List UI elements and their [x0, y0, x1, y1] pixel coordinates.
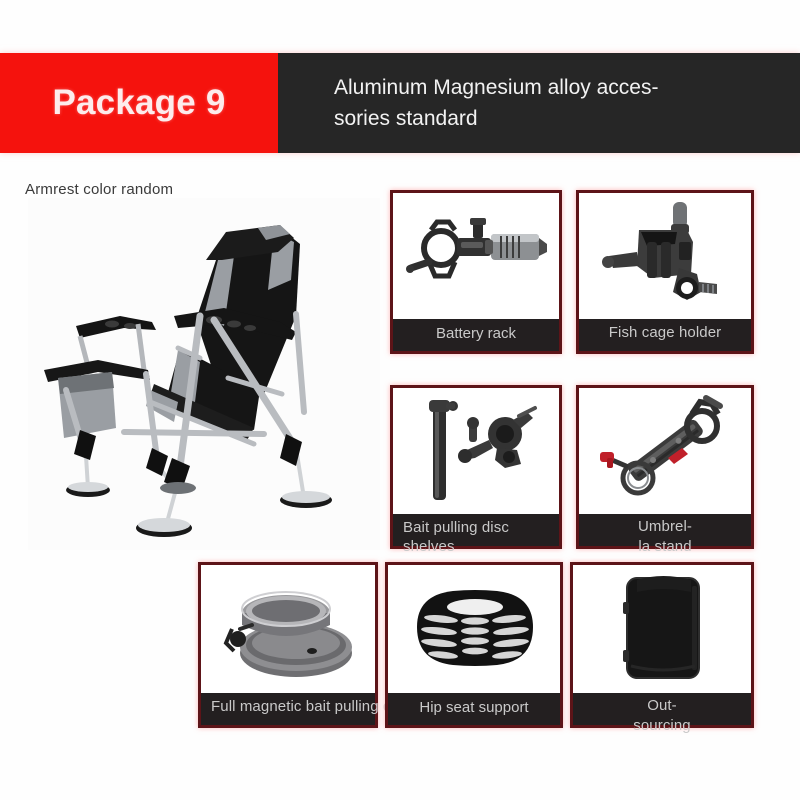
chair-product-image: [28, 198, 380, 550]
accessory-card-battery-rack[interactable]: Battery rack: [390, 190, 562, 354]
fish-cage-holder-caption: Fish cage holder: [579, 319, 751, 351]
umbrella-stand-caption: Umbrel-la stand: [579, 514, 751, 546]
full-magnetic-bait-pulling-disc-image: [201, 565, 375, 693]
battery-rack-caption: Battery rack: [393, 319, 559, 351]
full-magnetic-bait-pulling-disc-caption: Full magnetic bait pulling disc: [201, 693, 375, 725]
fish-cage-holder-image: [579, 193, 751, 319]
accessory-card-hip-seat-support[interactable]: Hip seat support: [385, 562, 563, 728]
hip-seat-support-caption: Hip seat support: [388, 693, 560, 725]
accessory-card-fish-cage-holder[interactable]: Fish cage holder: [576, 190, 754, 354]
package-label: Package 9: [52, 83, 225, 123]
product-spec-page: Package 9 Aluminum Magnesium alloy acces…: [0, 0, 800, 800]
accessory-card-umbrella-stand[interactable]: Umbrel-la stand: [576, 385, 754, 549]
outsourcing-caption-line1: Out-: [647, 697, 677, 714]
chair-illustration: [28, 198, 380, 550]
bait-pulling-disc-shelves-caption: Bait pulling disc shelves: [393, 514, 559, 546]
outsourcing-caption: Out-sourcing: [573, 693, 751, 725]
accessory-card-bait-pulling-disc-shelves[interactable]: Bait pulling disc shelves: [390, 385, 562, 549]
outsourcing-caption-line2: sourcing: [633, 717, 691, 734]
header-description-panel: Aluminum Magnesium alloy acces- sories s…: [278, 53, 800, 153]
armrest-note: Armrest color random: [25, 181, 173, 198]
accessory-card-full-magnetic-bait-pulling-disc[interactable]: Full magnetic bait pulling disc: [198, 562, 378, 728]
umbrella-stand-image: [579, 388, 751, 514]
accessory-card-outsourcing[interactable]: Out-sourcing: [570, 562, 754, 728]
umbrella-stand-caption-line2: la stand: [638, 538, 691, 555]
hip-seat-support-image: [388, 565, 560, 693]
outsourcing-image: [573, 565, 751, 693]
battery-rack-image: [393, 193, 559, 319]
umbrella-stand-caption-line1: Umbrel-: [638, 518, 692, 535]
package-badge: Package 9: [0, 53, 278, 153]
header-banner: Package 9 Aluminum Magnesium alloy acces…: [0, 53, 800, 153]
header-description: Aluminum Magnesium alloy acces- sories s…: [334, 72, 658, 134]
bait-pulling-disc-shelves-image: [393, 388, 559, 514]
